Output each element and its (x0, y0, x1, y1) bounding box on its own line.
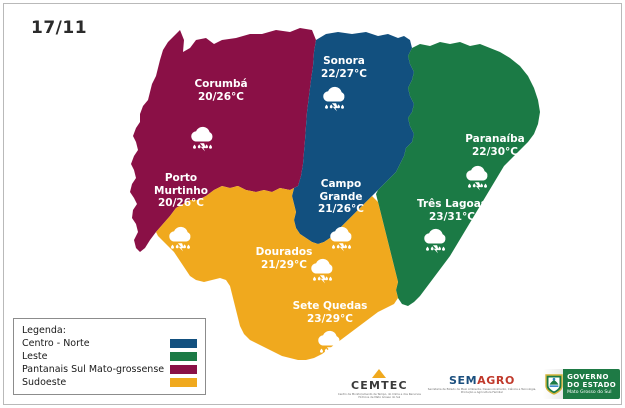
legend-item-sudoeste[interactable]: Sudoeste (22, 376, 197, 389)
semagro-subtitle: Secretaria de Estado de Meio Ambiente, D… (427, 388, 537, 395)
semagro-name-part2: AGRO (477, 374, 515, 387)
cemtec-subtitle: Centro de Monitoramento de Tempo, do Cli… (336, 393, 423, 400)
legend-swatch-leste (170, 352, 197, 361)
rain-thunderstorm-icon (164, 226, 198, 252)
rain-thunderstorm-icon (461, 165, 495, 191)
legend: Legenda: Centro - Norte Leste Pantanais … (13, 318, 206, 395)
legend-swatch-sudoeste (170, 378, 197, 387)
semagro-name: SEMAGRO (427, 374, 537, 387)
governo-line2: DO ESTADO (567, 381, 616, 389)
legend-label-pantanais: Pantanais Sul Mato-grossense (22, 364, 164, 375)
legend-title: Legenda: (22, 325, 197, 336)
semagro-name-part1: SEM (449, 374, 477, 387)
state-coat-of-arms-icon (544, 372, 564, 396)
rain-thunderstorm-icon (419, 228, 453, 254)
weather-map-slide: 17/11 Corumbá 20/26°C (0, 0, 625, 408)
rain-thunderstorm-icon (313, 330, 347, 356)
cemtec-name: CEMTEC (336, 379, 423, 392)
legend-item-pantanais[interactable]: Pantanais Sul Mato-grossense (22, 363, 197, 376)
footer-logos: CEMTEC Centro de Monitoramento de Tempo,… (336, 364, 620, 404)
rain-thunderstorm-icon (306, 258, 340, 284)
legend-swatch-centro-norte (170, 339, 197, 348)
governo-line3: Mato Grosso do Sul (567, 390, 616, 395)
governo-do-estado-logo[interactable]: GOVERNO DO ESTADO Mato Grosso do Sul (543, 369, 620, 399)
legend-label-centro-norte: Centro - Norte (22, 338, 90, 349)
legend-label-sudoeste: Sudoeste (22, 377, 66, 388)
semagro-logo[interactable]: SEMAGRO Secretaria de Estado de Meio Amb… (427, 374, 537, 395)
cemtec-logo[interactable]: CEMTEC Centro de Monitoramento de Tempo,… (336, 369, 423, 400)
legend-item-centro-norte[interactable]: Centro - Norte (22, 337, 197, 350)
rain-thunderstorm-icon (186, 126, 220, 152)
legend-item-leste[interactable]: Leste (22, 350, 197, 363)
rain-thunderstorm-icon (318, 86, 352, 112)
legend-label-leste: Leste (22, 351, 48, 362)
cemtec-mark-icon (372, 369, 386, 378)
governo-line1: GOVERNO (567, 373, 616, 381)
legend-swatch-pantanais (170, 365, 197, 374)
governo-text: GOVERNO DO ESTADO Mato Grosso do Sul (567, 373, 616, 395)
rain-thunderstorm-icon (325, 226, 359, 252)
